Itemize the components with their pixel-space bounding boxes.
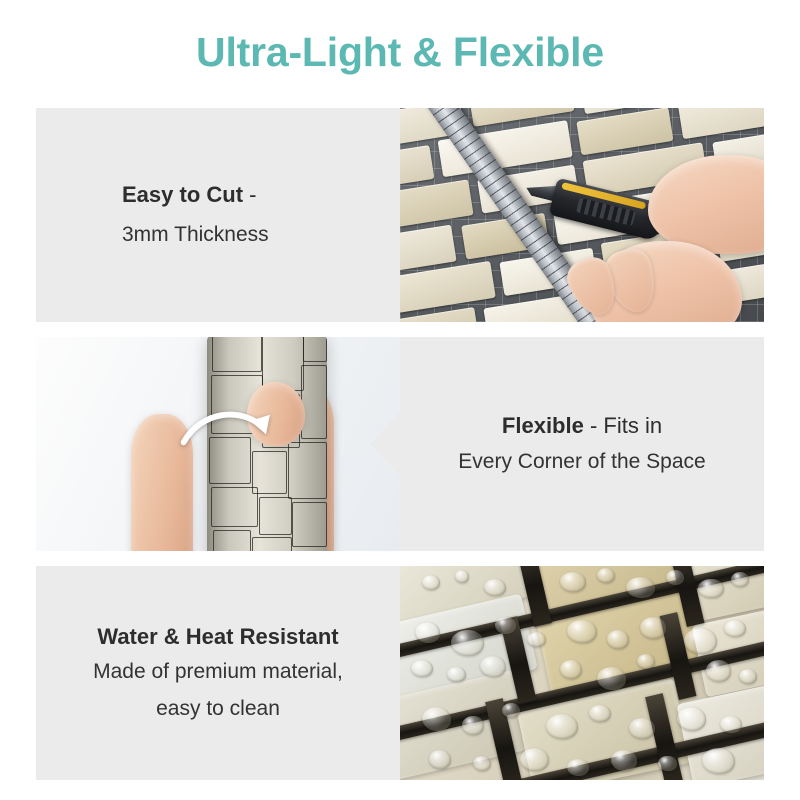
water-droplet	[597, 667, 626, 691]
cutting-panel-photo	[400, 108, 764, 322]
water-droplet	[567, 759, 589, 776]
water-droplet	[720, 716, 742, 733]
water-droplet	[702, 748, 735, 774]
bend-direction-arrow-icon	[145, 405, 312, 452]
feature-subtext-line-1: Made of premium material,	[93, 656, 343, 689]
feature-text-panel-water-and-heat-resistant: Water & Heat Resistant Made of premium m…	[36, 566, 400, 780]
water-droplet	[527, 632, 545, 647]
water-droplet	[411, 660, 433, 677]
water-droplet	[447, 667, 465, 682]
water-droplet	[658, 756, 676, 771]
feature-heading-strong: Easy to Cut	[122, 182, 243, 207]
water-droplet	[567, 620, 596, 644]
water-droplet	[677, 707, 706, 731]
water-droplet	[629, 718, 654, 739]
feature-heading-water-and-heat-resistant: Water & Heat Resistant	[97, 621, 338, 653]
water-droplet	[637, 654, 655, 669]
water-droplet	[560, 572, 585, 591]
water-droplet	[739, 669, 757, 684]
water-droplet	[484, 579, 506, 596]
feature-heading-strong: Water & Heat Resistant	[97, 624, 338, 649]
water-droplet	[607, 630, 629, 649]
water-droplet	[451, 630, 484, 656]
water-droplet	[422, 575, 440, 590]
water-droplet	[684, 628, 717, 654]
water-droplet	[473, 756, 491, 771]
feature-row-water-and-heat-resistant: Water & Heat Resistant Made of premium m…	[36, 566, 764, 780]
feature-subtext-line-2: easy to clean	[156, 693, 280, 726]
water-droplet	[546, 714, 579, 740]
water-droplet	[666, 570, 684, 585]
water-droplet	[455, 570, 470, 583]
water-droplets-photo	[400, 566, 764, 780]
feature-subtext-easy-to-cut: 3mm Thickness	[122, 219, 269, 252]
feature-heading-flexible: Flexible - Fits in	[502, 410, 662, 442]
water-droplet	[429, 750, 451, 769]
water-droplet	[589, 705, 611, 722]
feature-heading-rest: - Fits in	[584, 413, 662, 438]
product-feature-infographic: Ultra-Light & Flexible Easy to Cut - 3mm…	[0, 0, 800, 800]
feature-heading-easy-to-cut: Easy to Cut -	[122, 179, 256, 211]
water-droplet	[724, 620, 746, 637]
water-droplet	[640, 617, 665, 638]
water-droplet	[611, 750, 636, 771]
water-droplet	[560, 660, 582, 679]
water-droplet	[706, 660, 731, 681]
water-droplet	[520, 748, 549, 772]
water-droplet	[415, 622, 440, 643]
water-droplet	[422, 707, 451, 731]
feature-subtext-flexible: Every Corner of the Space	[458, 446, 705, 479]
water-droplet	[502, 703, 520, 718]
water-droplet	[480, 656, 505, 677]
feature-heading-rest: -	[243, 182, 256, 207]
feature-row-flexible: Flexible - Fits in Every Corner of the S…	[36, 337, 764, 551]
feature-text-panel-flexible: Flexible - Fits in Every Corner of the S…	[400, 337, 764, 551]
water-droplet	[626, 577, 655, 598]
feature-text-panel-easy-to-cut: Easy to Cut - 3mm Thickness	[36, 108, 400, 322]
page-title: Ultra-Light & Flexible	[0, 30, 800, 75]
page-title-text: Ultra-Light & Flexible	[196, 30, 604, 75]
flexing-panel-photo	[36, 337, 400, 551]
feature-heading-strong: Flexible	[502, 413, 584, 438]
water-droplet	[698, 579, 723, 598]
water-droplet	[597, 568, 615, 583]
water-droplet	[462, 716, 484, 735]
feature-row-easy-to-cut: Easy to Cut - 3mm Thickness	[36, 108, 764, 322]
